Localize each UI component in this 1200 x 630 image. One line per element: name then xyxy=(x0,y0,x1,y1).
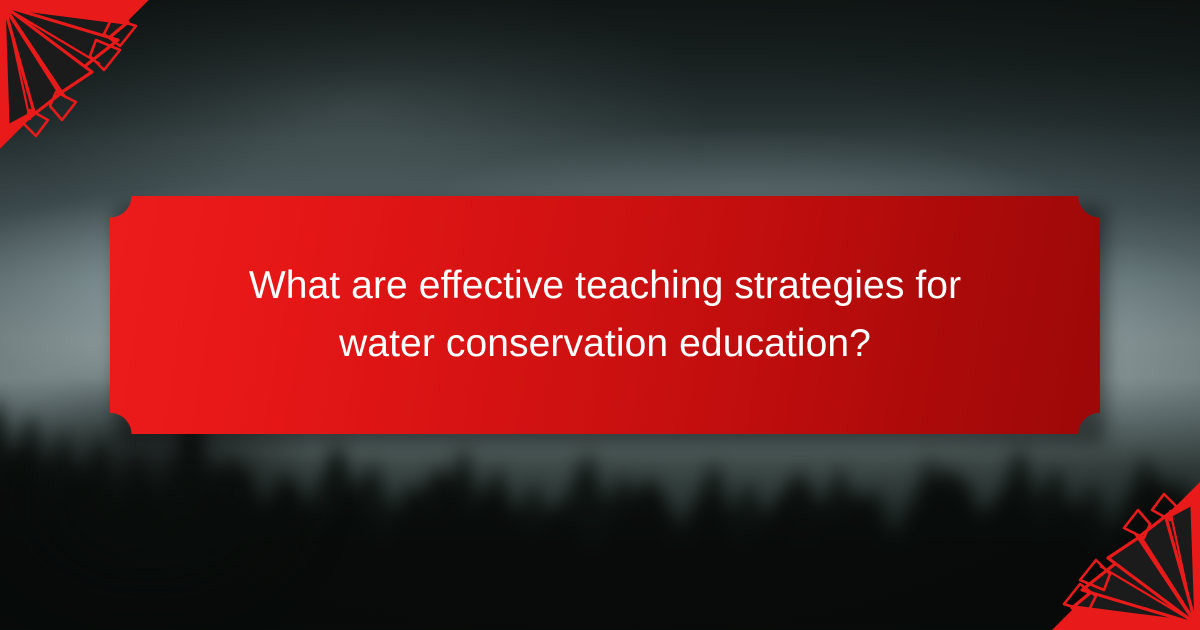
headline-text: What are effective teaching strategies f… xyxy=(185,257,1025,372)
headline-banner: What are effective teaching strategies f… xyxy=(110,196,1100,434)
banner-surface: What are effective teaching strategies f… xyxy=(110,196,1100,434)
social-card: What are effective teaching strategies f… xyxy=(0,0,1200,630)
